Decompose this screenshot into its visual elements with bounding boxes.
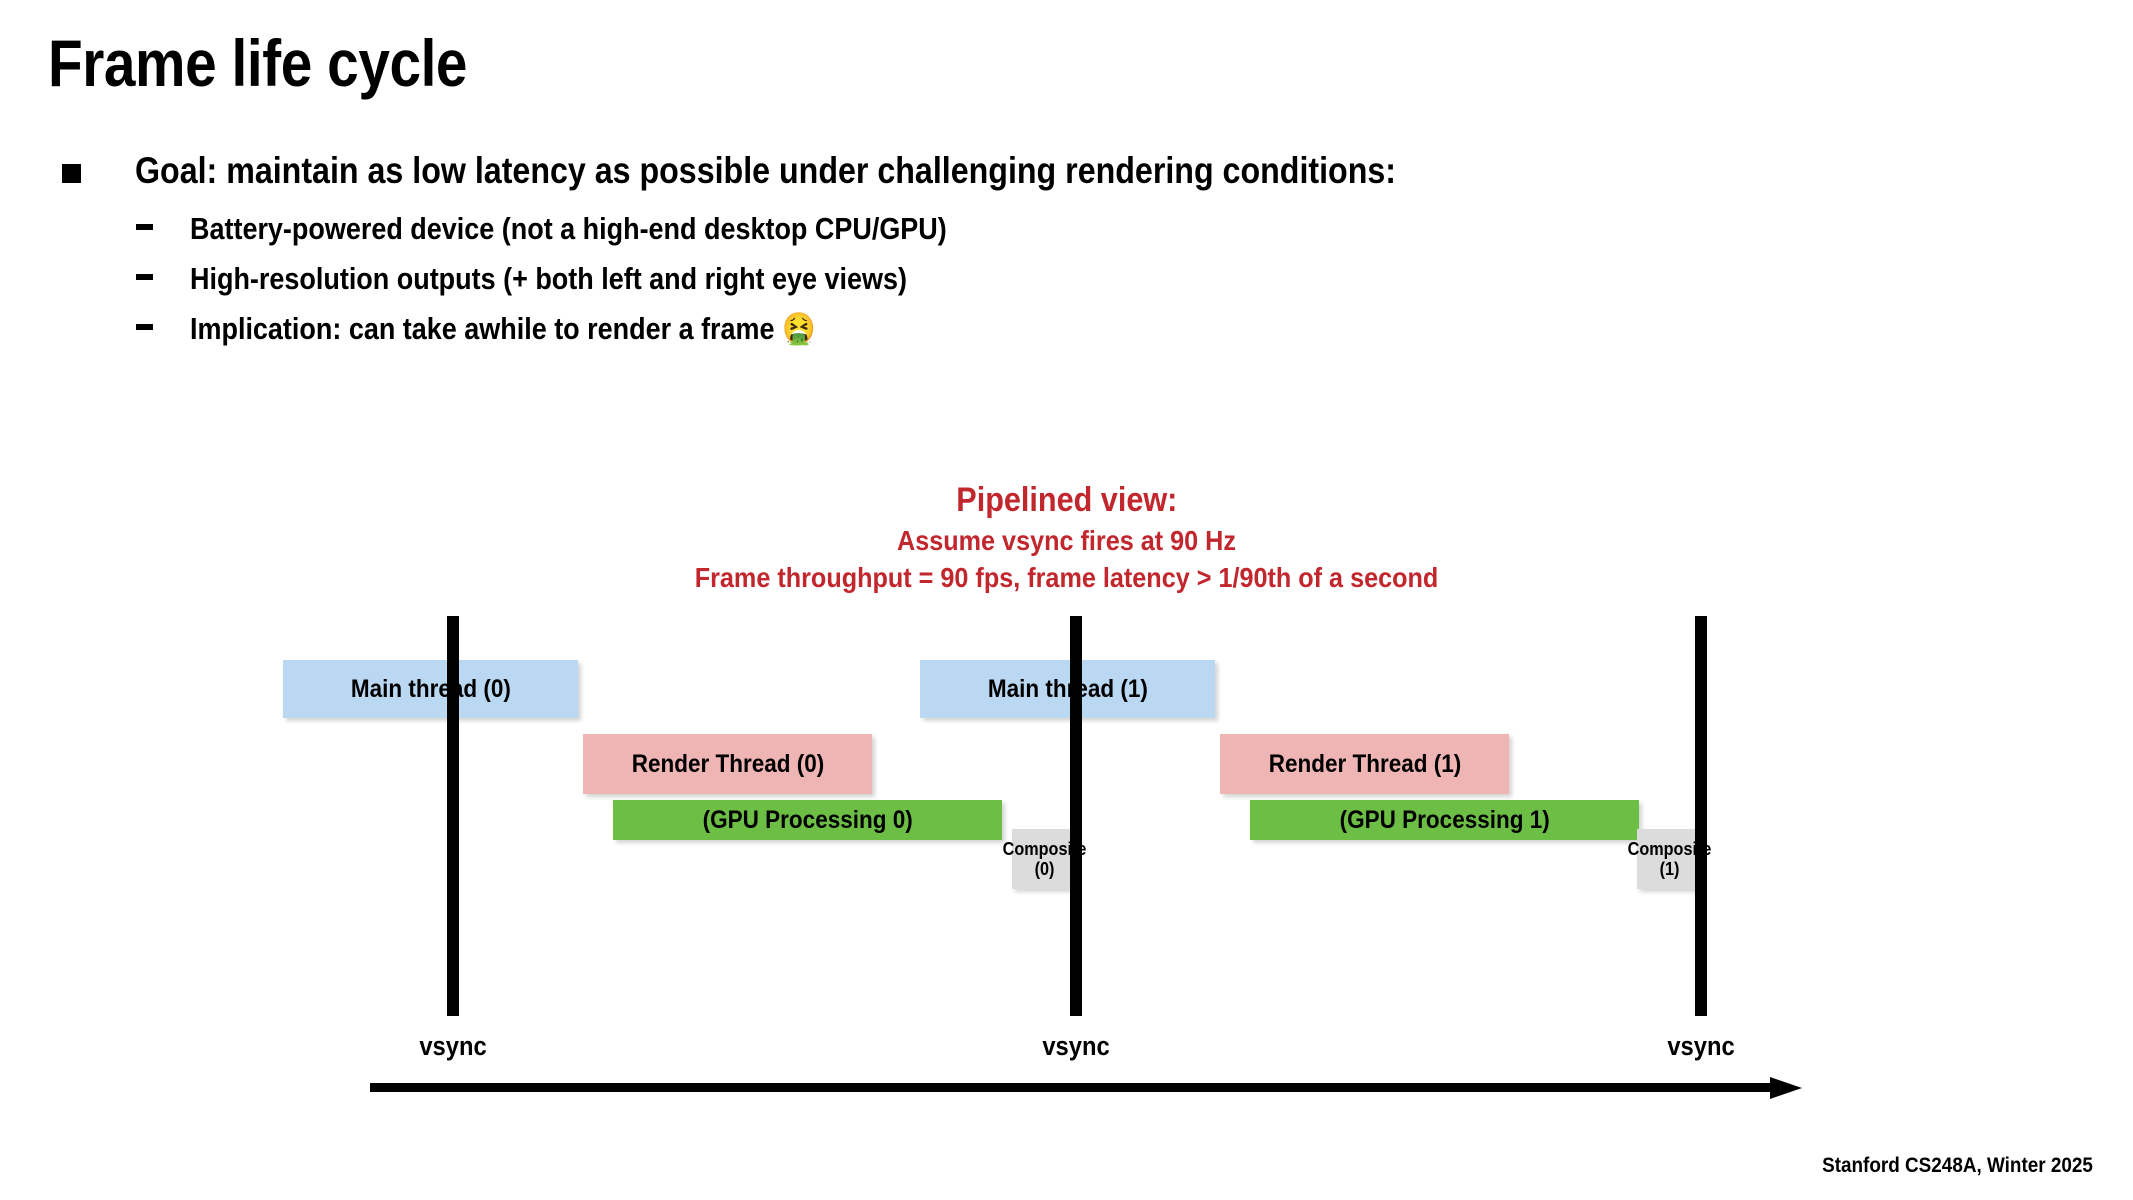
square-bullet-icon bbox=[62, 164, 81, 183]
timeline-box-main-0-label: Main thread (0) bbox=[350, 675, 510, 703]
dash-bullet-icon bbox=[136, 274, 153, 280]
timeline-box-render-1: Render Thread (1) bbox=[1220, 734, 1509, 794]
timeline-box-main-1-label: Main thread (1) bbox=[987, 675, 1147, 703]
bullet-sub-3: Implication: can take awhile to render a… bbox=[0, 310, 1600, 352]
timeline-box-render-0: Render Thread (0) bbox=[583, 734, 872, 794]
time-axis-arrow bbox=[370, 1077, 1802, 1101]
vsync-line-2 bbox=[1695, 616, 1707, 1016]
timeline-box-gpu-0: (GPU Processing 0) bbox=[613, 800, 1002, 840]
timeline-box-gpu-0-label: (GPU Processing 0) bbox=[702, 806, 912, 834]
timeline-box-main-1: Main thread (1) bbox=[920, 660, 1215, 718]
timeline-box-composite-0: Composite (0) bbox=[1012, 829, 1076, 889]
bullet-sub-2: High-resolution outputs (+ both left and… bbox=[0, 260, 1600, 302]
page-title: Frame life cycle bbox=[48, 22, 467, 105]
bullet-sub-3-text: Implication: can take awhile to render a… bbox=[190, 311, 782, 346]
dash-bullet-icon bbox=[136, 224, 153, 230]
caption-line-1: Assume vsync fires at 90 Hz bbox=[107, 523, 2027, 560]
timeline-box-render-0-label: Render Thread (0) bbox=[631, 750, 824, 778]
caption-line-2: Frame throughput = 90 fps, frame latency… bbox=[107, 560, 2027, 597]
vsync-line-1 bbox=[1070, 616, 1082, 1016]
dash-bullet-icon bbox=[136, 324, 153, 330]
diagram-caption: Pipelined view: Assume vsync fires at 90… bbox=[0, 478, 2133, 597]
bullet-sub-1-label: Battery-powered device (not a high-end d… bbox=[190, 210, 1417, 247]
timeline-box-gpu-1: (GPU Processing 1) bbox=[1250, 800, 1639, 840]
bullet-main-label: Goal: maintain as low latency as possibl… bbox=[135, 150, 1410, 193]
timeline-box-render-1-label: Render Thread (1) bbox=[1268, 750, 1461, 778]
bullet-main: Goal: maintain as low latency as possibl… bbox=[0, 150, 1600, 196]
timeline-box-composite-1: Composite (1) bbox=[1637, 829, 1701, 889]
bullet-sub-1: Battery-powered device (not a high-end d… bbox=[0, 210, 1600, 252]
slide-footer: Stanford CS248A, Winter 2025 bbox=[1822, 1154, 2093, 1178]
timeline-box-main-0: Main thread (0) bbox=[283, 660, 578, 718]
bullet-list: Goal: maintain as low latency as possibl… bbox=[0, 150, 1600, 360]
timeline-box-gpu-1-label: (GPU Processing 1) bbox=[1339, 806, 1549, 834]
vsync-label-1: vsync bbox=[1042, 1031, 1109, 1062]
vsync-label-0: vsync bbox=[419, 1031, 486, 1062]
bullet-sub-2-label: High-resolution outputs (+ both left and… bbox=[190, 260, 1417, 297]
caption-title: Pipelined view: bbox=[956, 478, 1177, 523]
time-axis-shaft bbox=[370, 1083, 1770, 1092]
time-axis-arrowhead bbox=[1770, 1077, 1802, 1099]
vsync-line-0 bbox=[447, 616, 459, 1016]
slide-canvas: Frame life cycle Goal: maintain as low l… bbox=[0, 0, 2133, 1200]
bullet-sub-3-label: Implication: can take awhile to render a… bbox=[190, 310, 1417, 347]
vsync-label-2: vsync bbox=[1667, 1031, 1734, 1062]
face-vomiting-icon: 🤮 bbox=[782, 311, 816, 346]
